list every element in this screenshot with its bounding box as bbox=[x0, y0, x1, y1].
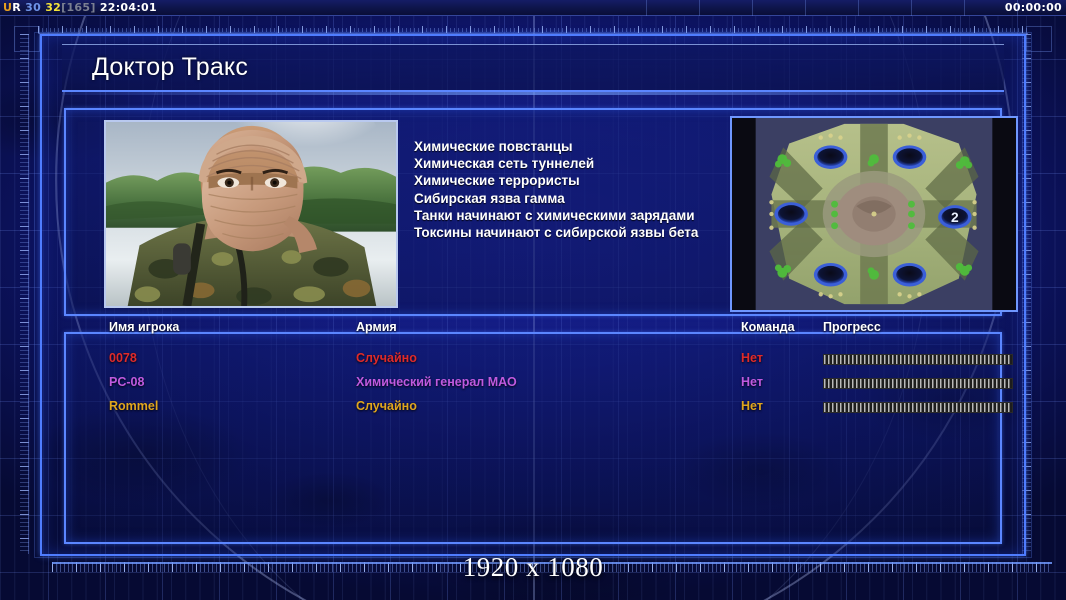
status-clock-left: 22:04:01 bbox=[100, 1, 157, 14]
status-bar: UR 30 32[165] 22:04:01 00:00:00 bbox=[0, 0, 1066, 16]
description-line: Сибирская язва гамма bbox=[414, 190, 754, 207]
resolution-label: 1920 x 1080 bbox=[0, 552, 1066, 583]
column-header-team: Команда bbox=[741, 320, 795, 334]
corner-decoration-tl bbox=[14, 26, 40, 52]
general-portrait bbox=[104, 120, 398, 308]
player-progress-bar bbox=[823, 354, 1013, 365]
player-name: 0078 bbox=[109, 351, 137, 365]
player-team: Нет bbox=[741, 399, 763, 413]
status-bar-ticks bbox=[646, 0, 1066, 16]
player-progress-bar bbox=[823, 402, 1013, 413]
general-description: Химические повстанцы Химическая сеть тун… bbox=[414, 138, 754, 241]
status-clock-right: 00:00:00 bbox=[1005, 1, 1066, 14]
window-title-bar: Доктор Тракс bbox=[62, 44, 1004, 92]
player-rows: 0078 Случайно Нет PC-08 Химический генер… bbox=[66, 348, 1000, 420]
minimap-preview: 2 bbox=[730, 116, 1018, 312]
column-header-army: Армия bbox=[356, 320, 397, 334]
general-info-panel: Химические повстанцы Химическая сеть тун… bbox=[64, 108, 1002, 316]
player-list-panel: Имя игрока Армия Команда Прогресс 0078 С… bbox=[64, 332, 1002, 544]
description-line: Химическая сеть туннелей bbox=[414, 155, 754, 172]
page-title: Доктор Тракс bbox=[62, 53, 248, 82]
player-name: Rommel bbox=[109, 399, 158, 413]
status-letter-r: R bbox=[12, 1, 21, 14]
table-row: 0078 Случайно Нет bbox=[66, 348, 1000, 372]
loading-screen-window: Доктор Тракс bbox=[40, 34, 1026, 556]
status-letter-u: U bbox=[3, 1, 12, 14]
status-value-1: 30 bbox=[25, 1, 41, 14]
player-army: Случайно bbox=[356, 399, 417, 413]
description-line: Химические повстанцы bbox=[414, 138, 754, 155]
portrait-artwork bbox=[106, 122, 396, 306]
status-bar-left: UR 30 32[165] 22:04:01 bbox=[0, 1, 157, 14]
corner-decoration-tr bbox=[1026, 26, 1052, 52]
player-army: Случайно bbox=[356, 351, 417, 365]
column-header-progress: Прогресс bbox=[823, 320, 881, 334]
minimap-artwork: 2 bbox=[732, 118, 1016, 310]
player-list-headers: Имя игрока Армия Команда Прогресс bbox=[66, 320, 1000, 340]
description-line: Танки начинают с химическими зарядами bbox=[414, 207, 754, 224]
status-value-2: 32 bbox=[45, 1, 61, 14]
app-root: UR 30 32[165] 22:04:01 00:00:00 Доктор Т… bbox=[0, 0, 1066, 600]
minimap-position-label: 2 bbox=[951, 210, 959, 225]
description-line: Химические террористы bbox=[414, 172, 754, 189]
column-header-name: Имя игрока bbox=[109, 320, 179, 334]
table-row: PC-08 Химический генерал МАО Нет bbox=[66, 372, 1000, 396]
player-name: PC-08 bbox=[109, 375, 144, 389]
status-bracket-value: [165] bbox=[61, 1, 96, 14]
player-army: Химический генерал МАО bbox=[356, 375, 517, 389]
player-progress-bar bbox=[823, 378, 1013, 389]
player-team: Нет bbox=[741, 351, 763, 365]
description-line: Токсины начинают с сибирской язвы бета bbox=[414, 224, 754, 241]
table-row: Rommel Случайно Нет bbox=[66, 396, 1000, 420]
player-team: Нет bbox=[741, 375, 763, 389]
